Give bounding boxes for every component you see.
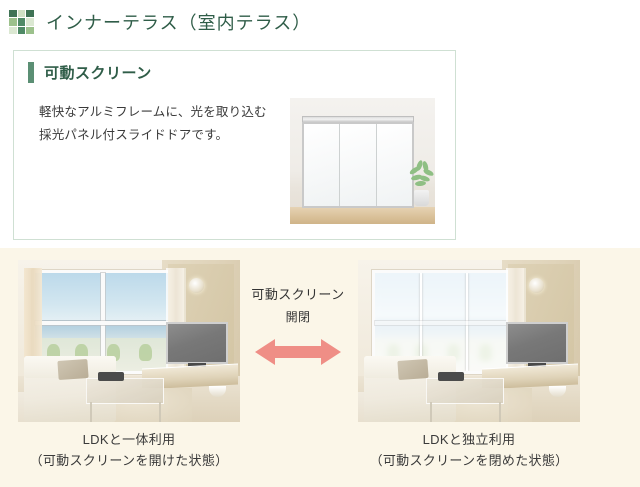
room-photo-open: [18, 260, 240, 422]
caption-left-line2: （可動スクリーンを開けた状態）: [18, 451, 240, 472]
card-heading: 可動スクリーン: [28, 62, 152, 83]
room-photo-closed: [358, 260, 580, 422]
table-leg: [159, 402, 161, 422]
photo-floor: [290, 207, 435, 224]
card-heading-text: 可動スクリーン: [44, 62, 152, 83]
center-annotation: 可動スクリーン 開閉: [240, 284, 356, 325]
door-panel: [340, 124, 376, 206]
room-table-tray: [438, 372, 464, 381]
caption-right-line2: （可動スクリーンを閉めた状態）: [358, 451, 580, 472]
view-tree: [139, 344, 152, 361]
door-panel: [377, 124, 412, 206]
center-label-line1: 可動スクリーン: [240, 284, 356, 303]
photo-plant-pot: [414, 190, 429, 206]
feature-card: 可動スクリーン 軽快なアルミフレームに、光を取り込む採光パネル付スライドドアです…: [13, 50, 456, 240]
window-mullion: [35, 321, 171, 325]
room-table-tray: [98, 372, 124, 381]
room-coffee-table: [426, 378, 504, 404]
caption-right: LDKと独立利用 （可動スクリーンを閉めた状態）: [358, 430, 580, 472]
table-leg: [90, 402, 92, 422]
comparison-panel: 可動スクリーン 開閉 LDKと一体利用 （可動スクリーンを開けた状態） LDKと…: [0, 248, 640, 487]
table-leg: [430, 402, 432, 422]
room-wall-light: [529, 278, 544, 293]
caption-left-line1: LDKと一体利用: [83, 432, 176, 447]
room-tv: [166, 322, 228, 364]
double-arrow-horizontal-icon: [255, 336, 341, 368]
room-tv: [506, 322, 568, 364]
caption-right-line1: LDKと独立利用: [423, 432, 516, 447]
grid-squares-icon: [9, 10, 34, 35]
room-cushion: [57, 359, 88, 380]
photo-sliding-door: [302, 122, 414, 208]
heading-accent-bar: [28, 62, 34, 83]
product-photo: [290, 98, 435, 224]
page-title-row: インナーテラス（室内テラス）: [0, 0, 640, 44]
window-mullion: [375, 321, 511, 325]
table-leg: [499, 402, 501, 422]
caption-left: LDKと一体利用 （可動スクリーンを開けた状態）: [18, 430, 240, 472]
photo-plant-icon: [408, 162, 435, 192]
card-description: 軽快なアルミフレームに、光を取り込む採光パネル付スライドドアです。: [39, 101, 274, 147]
center-label-line2: 開閉: [240, 308, 356, 325]
room-cushion: [397, 359, 428, 380]
page-title: インナーテラス（室内テラス）: [46, 9, 311, 35]
door-panel: [304, 124, 340, 206]
room-coffee-table: [86, 378, 164, 404]
room-wall-light: [189, 278, 204, 293]
